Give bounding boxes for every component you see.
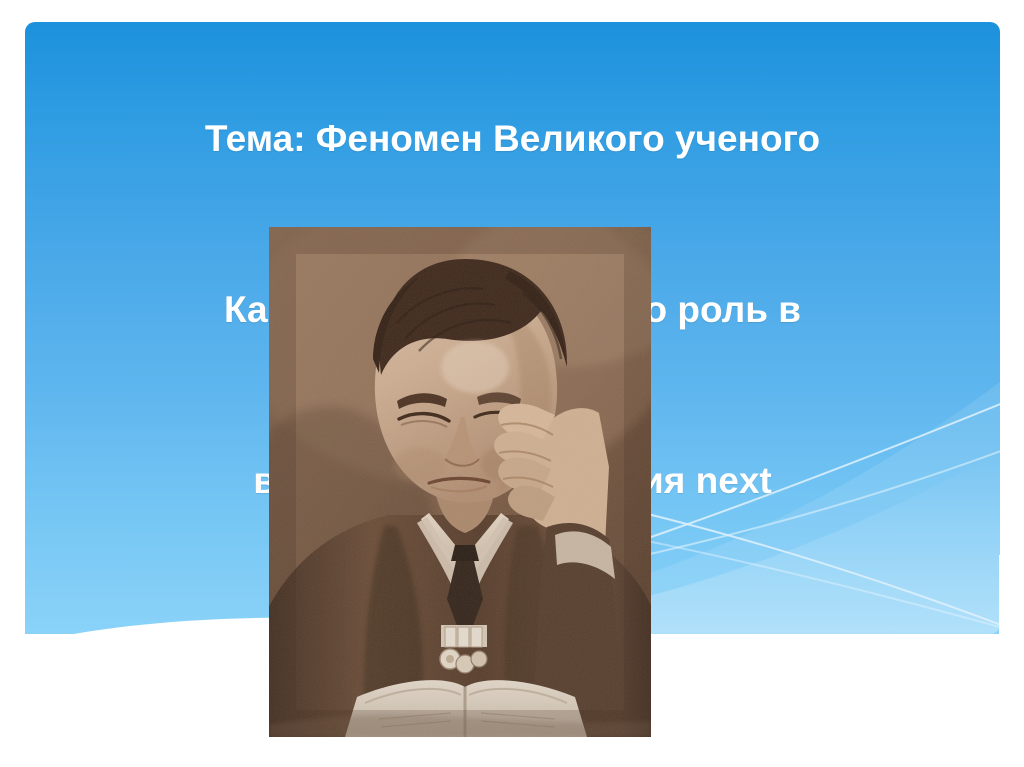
title-line-1: Тема: Феномен Великого ученого xyxy=(25,110,1000,167)
portrait-photo xyxy=(269,227,651,737)
wave-left-margin xyxy=(0,634,26,767)
wave-right-margin xyxy=(999,555,1024,767)
slide-canvas: Тема: Феномен Великого ученого Каныша Са… xyxy=(0,0,1024,767)
